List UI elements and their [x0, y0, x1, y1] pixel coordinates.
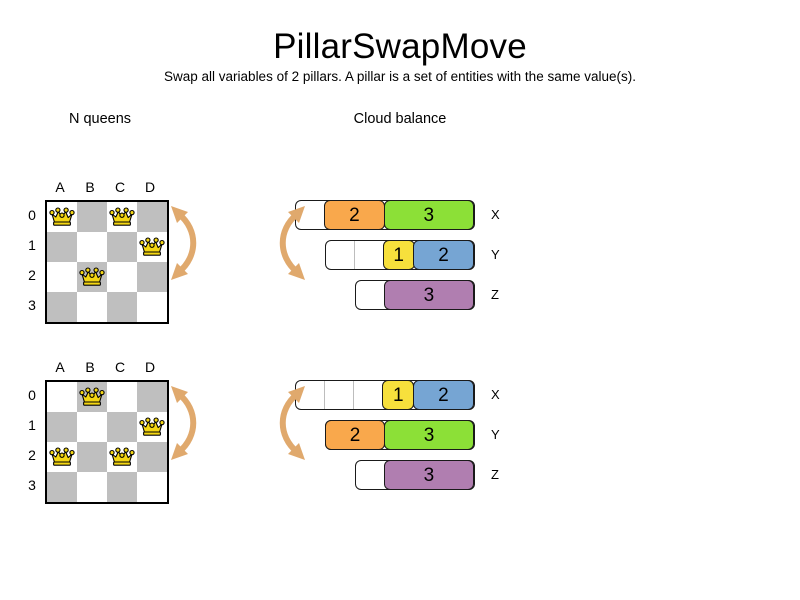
cloud-process-value: 1 [393, 386, 404, 405]
cloud-process-value: 2 [438, 386, 449, 405]
queens-swap-arrow-bottom [168, 378, 208, 473]
cloud-process-value: 3 [424, 286, 435, 305]
cloud-computer-bar[interactable]: 12 [295, 380, 475, 410]
board-column-label-a: A [45, 359, 75, 375]
cloud-process-segment[interactable]: 2 [413, 240, 474, 271]
page-title: PillarSwapMove [0, 26, 800, 68]
board-column-label-d: D [135, 359, 165, 375]
cloud-row-z: 3Z [0, 460, 800, 490]
cloud-free-capacity-cell [356, 281, 385, 309]
cloud-process-value: 2 [350, 426, 361, 445]
board-column-label-c: C [105, 359, 135, 375]
cloud-free-capacity-cell [354, 381, 383, 409]
queens-swap-arrow-top [168, 198, 208, 293]
cloud-process-segment[interactable]: 3 [384, 420, 474, 451]
cloud-row-z: 3Z [0, 280, 800, 310]
cloud-row-x: 12X [0, 380, 800, 410]
section-heading-cloud-balance: Cloud balance [320, 110, 480, 128]
cloud-swap-arrow-bottom [268, 378, 308, 473]
cloud-process-value: 2 [349, 206, 360, 225]
board-column-label-b: B [75, 179, 105, 195]
cloud-process-value: 3 [424, 466, 435, 485]
board-column-label-a: A [45, 179, 75, 195]
cloud-process-value: 3 [424, 426, 435, 445]
cloud-computer-bar[interactable]: 12 [325, 240, 475, 270]
board-column-label-b: B [75, 359, 105, 375]
cloud-row-x: 23X [0, 200, 800, 230]
cloud-row-y: 23Y [0, 420, 800, 450]
cloud-process-segment[interactable]: 2 [413, 380, 474, 411]
cloud-process-segment[interactable]: 1 [382, 380, 414, 411]
cloud-process-segment[interactable]: 3 [384, 200, 474, 231]
cloud-process-segment[interactable]: 2 [324, 200, 385, 231]
cloud-process-segment[interactable]: 2 [325, 420, 386, 451]
page-subtitle: Swap all variables of 2 pillars. A pilla… [0, 69, 800, 85]
cloud-row-label-x: X [491, 200, 500, 230]
section-heading-nqueens: N queens [20, 110, 180, 128]
cloud-row-label-y: Y [491, 420, 500, 450]
cloud-free-capacity-cell [326, 241, 355, 269]
cloud-computer-bar[interactable]: 23 [325, 420, 475, 450]
cloud-swap-arrow-top [268, 198, 308, 293]
cloud-free-capacity-cell [355, 241, 384, 269]
cloud-computer-bar[interactable]: 3 [355, 460, 475, 490]
cloud-row-y: 12Y [0, 240, 800, 270]
cloud-process-segment[interactable]: 3 [384, 280, 474, 311]
cloud-process-value: 2 [438, 246, 449, 265]
cloud-process-segment[interactable]: 3 [384, 460, 474, 491]
cloud-process-segment[interactable]: 1 [383, 240, 415, 271]
cloud-process-value: 1 [393, 246, 404, 265]
cloud-row-label-z: Z [491, 460, 499, 490]
board-column-label-d: D [135, 179, 165, 195]
cloud-computer-bar[interactable]: 3 [355, 280, 475, 310]
cloud-free-capacity-cell [325, 381, 354, 409]
cloud-computer-bar[interactable]: 23 [295, 200, 475, 230]
diagram-canvas: PillarSwapMove Swap all variables of 2 p… [0, 0, 800, 600]
board-column-label-c: C [105, 179, 135, 195]
cloud-row-label-x: X [491, 380, 500, 410]
cloud-row-label-z: Z [491, 280, 499, 310]
cloud-row-label-y: Y [491, 240, 500, 270]
cloud-process-value: 3 [424, 206, 435, 225]
cloud-free-capacity-cell [356, 461, 385, 489]
